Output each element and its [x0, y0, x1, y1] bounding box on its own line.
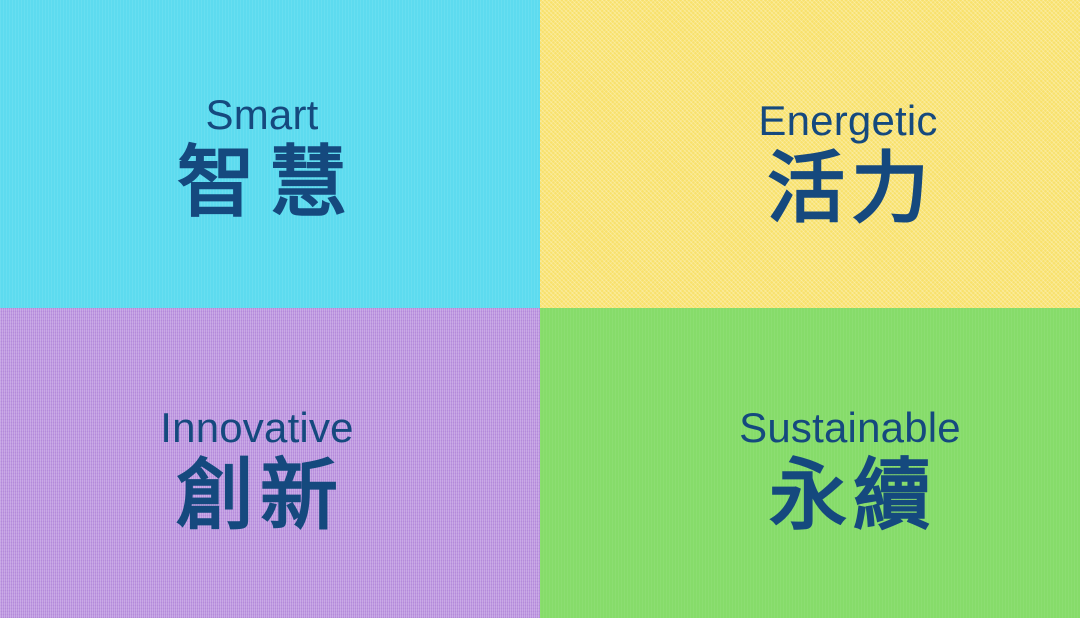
quadrant-sustainable-chinese-label: 永續: [763, 457, 937, 535]
quadrant-energetic[interactable]: Energetic 活力: [540, 0, 1080, 308]
brand-values-board: Smart 智慧 Energetic 活力 Innovative 創新 Sust…: [0, 0, 1080, 618]
quadrant-smart-chinese-label: 智慧: [163, 144, 361, 222]
quadrant-sustainable[interactable]: Sustainable 永續: [540, 308, 1080, 618]
quadrant-energetic-english-label: Energetic: [758, 100, 937, 142]
quadrant-innovative[interactable]: Innovative 創新: [0, 308, 540, 618]
quadrant-innovative-chinese-label: 創新: [170, 457, 344, 535]
label-stack-smart: Smart 智慧: [163, 94, 361, 222]
quadrant-energetic-chinese-label: 活力: [761, 150, 935, 228]
label-stack-innovative: Innovative 創新: [160, 407, 353, 535]
quadrant-sustainable-english-label: Sustainable: [739, 407, 961, 449]
label-stack-sustainable: Sustainable 永續: [739, 407, 961, 535]
quadrant-smart[interactable]: Smart 智慧: [0, 0, 540, 308]
quadrant-smart-english-label: Smart: [205, 94, 318, 136]
quadrant-grid: Smart 智慧 Energetic 活力 Innovative 創新 Sust…: [0, 0, 1080, 618]
quadrant-innovative-english-label: Innovative: [160, 407, 353, 449]
label-stack-energetic: Energetic 活力: [758, 100, 937, 228]
